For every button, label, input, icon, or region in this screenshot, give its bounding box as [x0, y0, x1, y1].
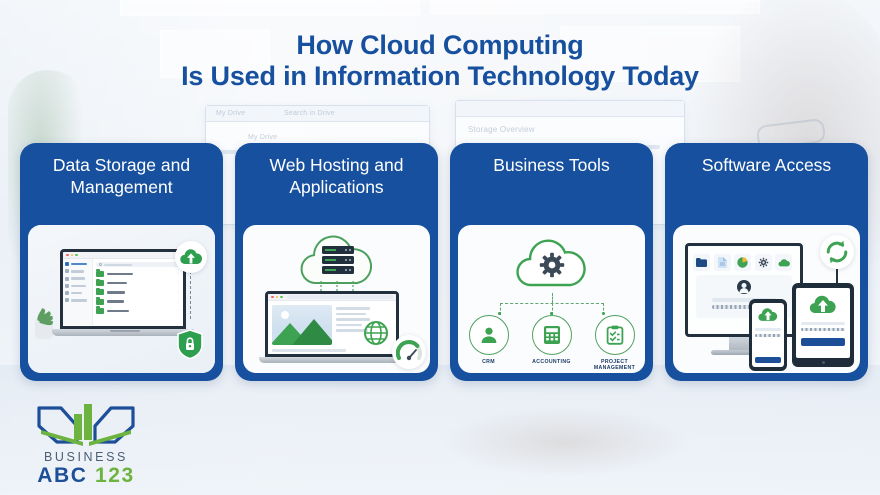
app-icon-row — [688, 246, 800, 275]
storage-overview-label: Storage Overview — [468, 125, 535, 134]
background-shelf — [430, 0, 760, 14]
clipboard-check-icon — [595, 315, 635, 355]
tool-node-list: CRM — [458, 315, 645, 371]
file-manager-sidebar[interactable] — [63, 259, 93, 325]
password-field[interactable] — [755, 334, 781, 337]
cloud-upload-icon — [175, 241, 207, 273]
monitor-search-label: Search in Drive — [284, 110, 335, 117]
card-illustration — [673, 225, 860, 373]
file-row-images[interactable]: ⋮ — [96, 289, 180, 295]
sidebar-item-starred[interactable] — [65, 284, 90, 288]
tablet-device — [792, 283, 854, 367]
monitor-label: My Drive — [216, 110, 245, 117]
title-line-1: How Cloud Computing — [0, 30, 880, 61]
sidebar-item-my-files[interactable] — [65, 262, 90, 266]
file-row-archives[interactable]: ⋮ — [96, 308, 180, 314]
calculator-icon — [532, 315, 572, 355]
brand-logo[interactable]: BUSINESS ABC 123 — [26, 396, 146, 487]
tool-node-label: ACCOUNTING — [526, 359, 578, 365]
tool-node-label: CRM — [463, 359, 515, 365]
sidebar-item-trash[interactable] — [65, 291, 90, 295]
card-business-tools[interactable]: Business Tools — [450, 143, 653, 381]
file-row-videos[interactable]: ⋮ — [96, 299, 180, 305]
cloud-upload-icon — [757, 307, 779, 323]
background-hands — [440, 407, 690, 477]
background-shelf — [120, 0, 420, 16]
sidebar-item-settings[interactable] — [65, 298, 90, 302]
card-title: Business Tools — [460, 152, 644, 176]
tool-node-project-management[interactable]: PROJECT MANAGEMENT — [589, 315, 641, 371]
username-field[interactable] — [801, 322, 845, 325]
card-row: Data Storage and Management — [20, 143, 868, 381]
home-button[interactable] — [822, 361, 825, 364]
monitor-drive-label: My Drive — [248, 134, 277, 141]
logo-abc: ABC — [37, 464, 87, 487]
window-titlebar — [63, 252, 183, 259]
address-bar[interactable] — [287, 295, 394, 299]
logo-line-1: BUSINESS — [26, 450, 146, 464]
card-title: Software Access — [675, 152, 859, 176]
connector-line — [190, 271, 192, 319]
card-data-storage[interactable]: Data Storage and Management — [20, 143, 223, 381]
card-illustration: CRM — [458, 225, 645, 373]
cloud-icon[interactable] — [775, 254, 792, 271]
tool-node-accounting[interactable]: ACCOUNTING — [526, 315, 578, 371]
sign-in-button[interactable] — [801, 338, 845, 346]
shield-lock-icon — [175, 329, 205, 359]
card-illustration: ⋮ ⋮ ⋮ ⋮ — [28, 225, 215, 373]
card-title: Data Storage and Management — [30, 152, 214, 198]
page-title: How Cloud Computing Is Used in Informati… — [0, 30, 880, 92]
folder-icon — [96, 289, 104, 295]
user-icon — [469, 315, 509, 355]
laptop-device: ⋮ ⋮ ⋮ ⋮ — [60, 249, 192, 341]
folder-icon[interactable] — [693, 254, 710, 271]
tool-node-label: PROJECT MANAGEMENT — [589, 359, 641, 371]
folder-icon — [96, 308, 104, 314]
folder-icon — [96, 271, 104, 277]
sign-in-button[interactable] — [755, 357, 781, 363]
card-software-access[interactable]: Software Access — [665, 143, 868, 381]
username-field[interactable] — [755, 328, 781, 331]
gear-icon[interactable] — [755, 254, 772, 271]
globe-icon — [363, 320, 389, 351]
cloud-with-gear-icon — [506, 237, 598, 298]
sync-icon — [820, 235, 854, 269]
pie-chart-icon[interactable] — [734, 254, 751, 271]
folder-icon — [96, 280, 104, 286]
tool-node-crm[interactable]: CRM — [463, 315, 515, 371]
logo-123: 123 — [95, 464, 135, 487]
open-book-bar-chart-icon — [26, 396, 146, 450]
folder-icon — [96, 299, 104, 305]
sidebar-item-recent[interactable] — [65, 277, 90, 281]
password-field[interactable] — [801, 328, 845, 331]
sidebar-item-shared[interactable] — [65, 269, 90, 273]
browser-toolbar — [268, 294, 396, 301]
hero-image — [272, 305, 332, 345]
file-row-reports[interactable]: ⋮ — [96, 280, 180, 286]
logo-line-2: ABC 123 — [26, 464, 146, 487]
cloud-upload-icon — [808, 294, 838, 316]
smartphone-device — [749, 299, 787, 371]
monitor-toolbar — [456, 101, 684, 117]
title-line-2: Is Used in Information Technology Today — [0, 61, 880, 92]
laptop-device — [265, 291, 407, 367]
search-icon — [99, 263, 102, 266]
document-icon[interactable] — [714, 254, 731, 271]
search-input[interactable] — [96, 262, 180, 267]
card-title: Web Hosting and Applications — [245, 152, 429, 198]
speed-gauge-icon — [392, 335, 426, 369]
file-row-documents[interactable]: ⋮ — [96, 271, 180, 277]
card-web-hosting[interactable]: Web Hosting and Applications — [235, 143, 438, 381]
connector-tree — [492, 293, 612, 315]
avatar-icon — [737, 280, 751, 294]
card-illustration — [243, 225, 430, 373]
